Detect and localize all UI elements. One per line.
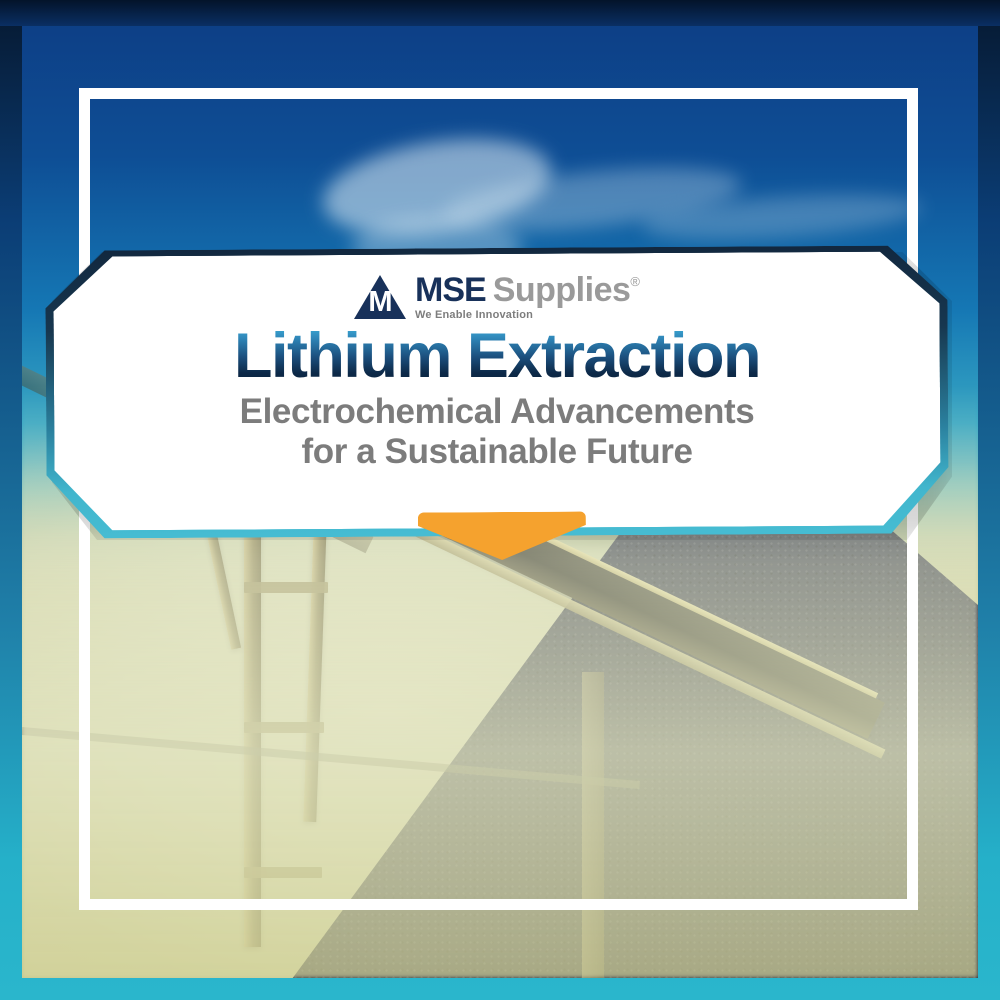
logo-wordmark: MSE Supplies ® We Enable Innovation: [415, 273, 640, 321]
mse-supplies-logo[interactable]: M MSE Supplies ® We Enable Innovation: [354, 274, 640, 320]
top-edge-shade: [0, 0, 1000, 26]
logo-name-row: MSE Supplies ®: [415, 273, 640, 307]
page-title: Lithium Extraction: [234, 324, 760, 388]
logo-name-primary: MSE: [415, 273, 486, 307]
card-content: M MSE Supplies ® We Enable Innovation Li…: [54, 254, 940, 528]
poster-canvas: M MSE Supplies ® We Enable Innovation Li…: [0, 0, 1000, 1000]
subtitle-line-1: Electrochemical Advancements: [240, 392, 755, 432]
subtitle-line-2: for a Sustainable Future: [301, 432, 692, 472]
logo-name-secondary: Supplies: [493, 273, 631, 307]
logo-tagline: We Enable Innovation: [415, 310, 640, 321]
logo-mark-letter: M: [354, 288, 406, 317]
mse-triangle-icon: M: [354, 275, 406, 319]
registered-trademark-icon: ®: [630, 275, 640, 288]
